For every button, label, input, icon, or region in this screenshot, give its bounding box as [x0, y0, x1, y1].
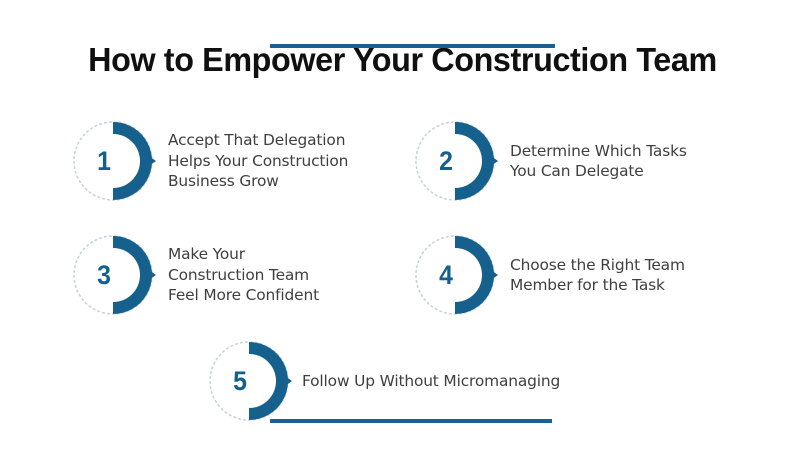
step-item-1: 1 Accept That Delegation Helps Your Cons… — [70, 118, 348, 204]
step-item-5: 5 Follow Up Without Micromanaging — [206, 338, 560, 424]
step-badge-3: 3 — [70, 232, 156, 318]
step-number-4: 4 — [415, 232, 478, 318]
step-number-3: 3 — [73, 232, 136, 318]
footer-rule — [270, 419, 552, 423]
step-label-3: Make Your Construction Team Feel More Co… — [156, 244, 319, 306]
step-number-1: 1 — [73, 118, 136, 204]
step-label-5: Follow Up Without Micromanaging — [292, 371, 560, 392]
step-item-3: 3 Make Your Construction Team Feel More … — [70, 232, 319, 318]
infographic-canvas: How to Empower Your Construction Team 1 … — [0, 0, 805, 470]
step-number-5: 5 — [209, 338, 272, 424]
title-underline-rule — [270, 44, 555, 48]
step-badge-2: 2 — [412, 118, 498, 204]
step-badge-5: 5 — [206, 338, 292, 424]
step-badge-4: 4 — [412, 232, 498, 318]
step-label-1: Accept That Delegation Helps Your Constr… — [156, 130, 348, 192]
step-label-2: Determine Which Tasks You Can Delegate — [498, 141, 687, 182]
step-number-2: 2 — [415, 118, 478, 204]
step-item-4: 4 Choose the Right Team Member for the T… — [412, 232, 685, 318]
step-label-4: Choose the Right Team Member for the Tas… — [498, 255, 685, 296]
step-item-2: 2 Determine Which Tasks You Can Delegate — [412, 118, 687, 204]
step-badge-1: 1 — [70, 118, 156, 204]
